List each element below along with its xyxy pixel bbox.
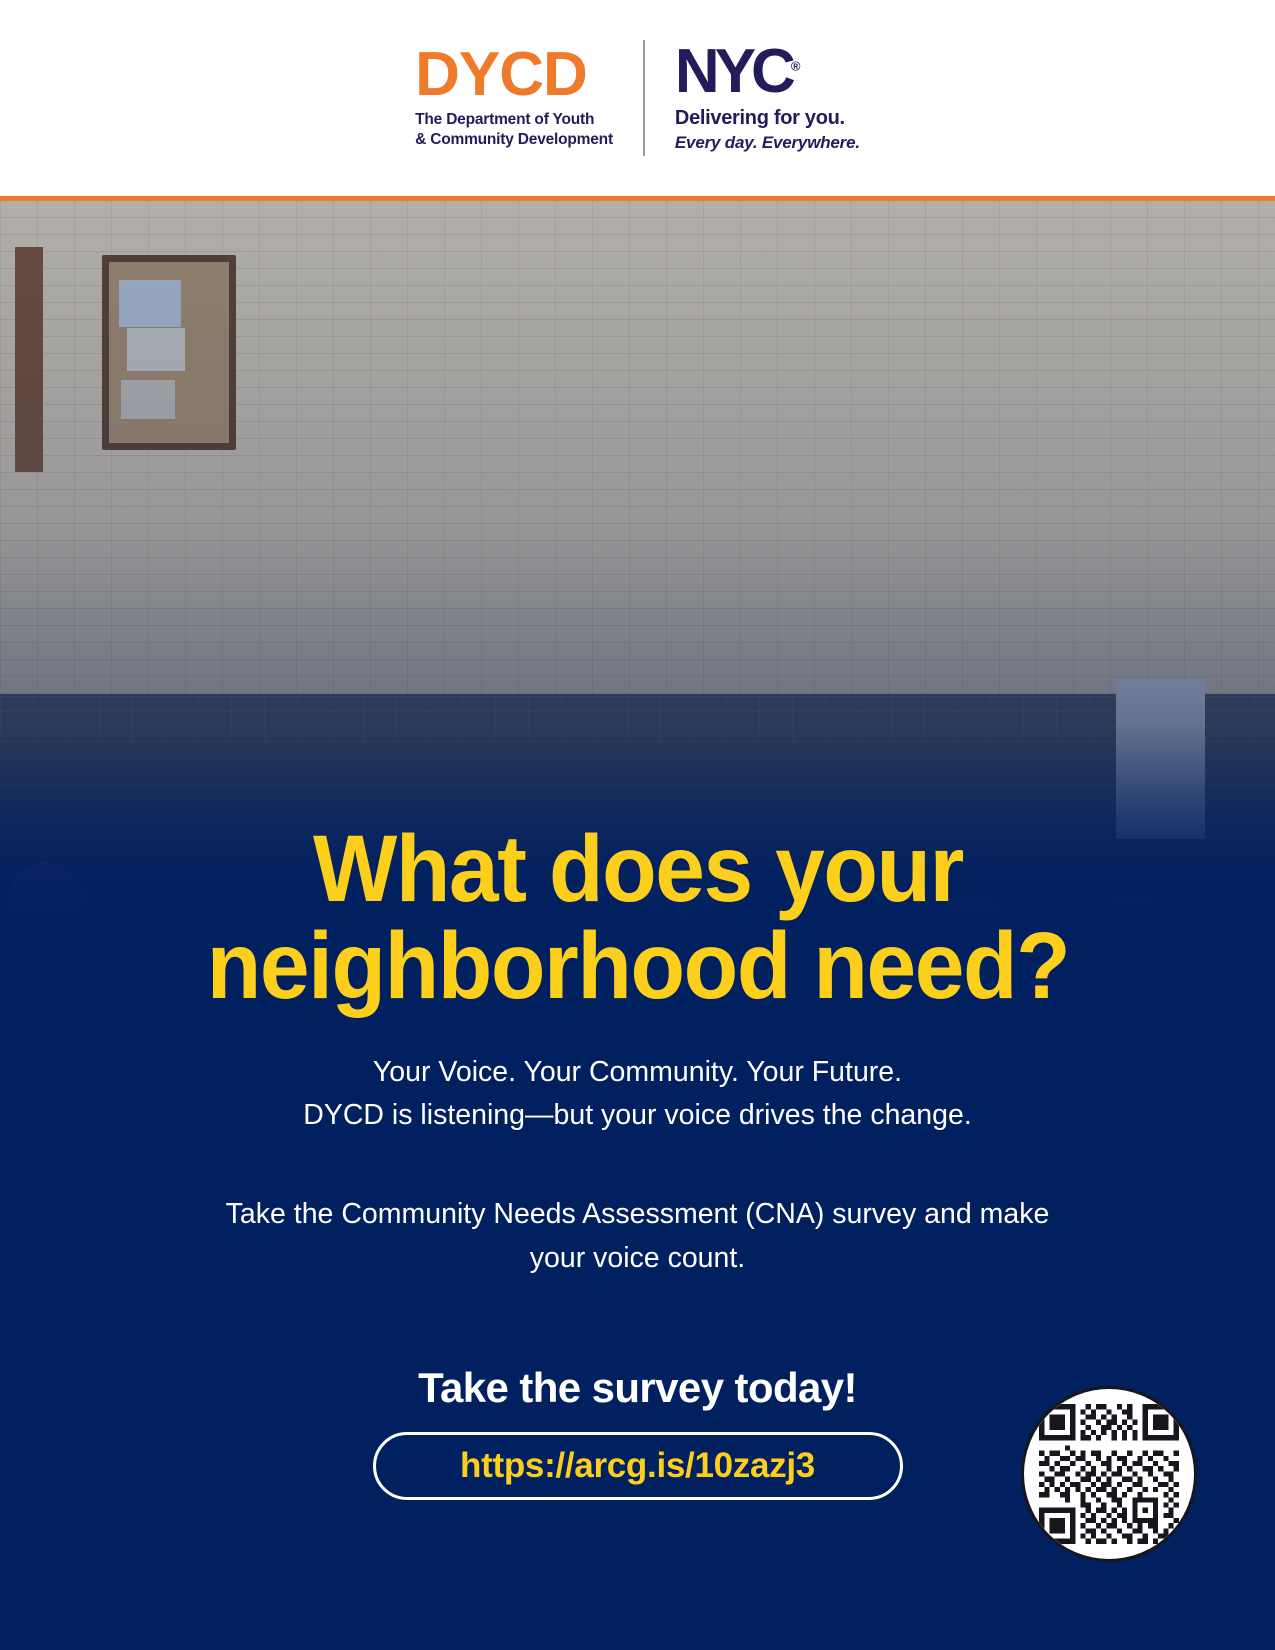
poster-body-copy: Take the Community Needs Assessment (CNA… <box>178 1193 1098 1280</box>
headline-line-2: neighborhood need? <box>149 918 1127 1015</box>
headline-line-1: What does your <box>149 821 1127 918</box>
dycd-logo: DYCD The Department of Youth & Community… <box>415 34 643 162</box>
nyc-logo: NYC® Delivering for you. Every day. Ever… <box>645 34 860 162</box>
body-copy-line-2: your voice count. <box>178 1237 1098 1280</box>
dycd-subtitle: The Department of Youth & Community Deve… <box>415 110 613 150</box>
subhead-line-1: Your Voice. Your Community. Your Future. <box>118 1051 1158 1094</box>
dycd-subtitle-line-2: & Community Development <box>415 130 613 150</box>
body-copy-line-1: Take the Community Needs Assessment (CNA… <box>178 1193 1098 1236</box>
dycd-wordmark: DYCD <box>415 46 613 103</box>
poster-headline: What does your neighborhood need? <box>149 821 1127 1015</box>
qr-code[interactable] <box>1021 1386 1197 1562</box>
poster-body: What does your neighborhood need? Your V… <box>0 201 1275 1650</box>
poster-subhead: Your Voice. Your Community. Your Future.… <box>118 1051 1158 1138</box>
nyc-wordmark-text: NYC <box>675 37 791 106</box>
nyc-tagline-line-1: Delivering for you. <box>675 107 860 130</box>
logo-lockup: DYCD The Department of Youth & Community… <box>415 34 860 162</box>
nyc-tagline-line-2: Every day. Everywhere. <box>675 133 860 153</box>
qr-code-icon <box>1034 1399 1184 1549</box>
page-header: DYCD The Department of Youth & Community… <box>0 0 1275 196</box>
dycd-subtitle-line-1: The Department of Youth <box>415 110 613 130</box>
call-to-action-heading: Take the survey today! <box>418 1364 857 1412</box>
registered-trademark-icon: ® <box>791 59 801 74</box>
survey-url-label: https://arcg.is/10zazj3 <box>460 1446 815 1486</box>
subhead-line-2: DYCD is listening—but your voice drives … <box>118 1094 1158 1137</box>
survey-url-button[interactable]: https://arcg.is/10zazj3 <box>373 1432 903 1500</box>
nyc-wordmark: NYC® <box>675 43 860 100</box>
